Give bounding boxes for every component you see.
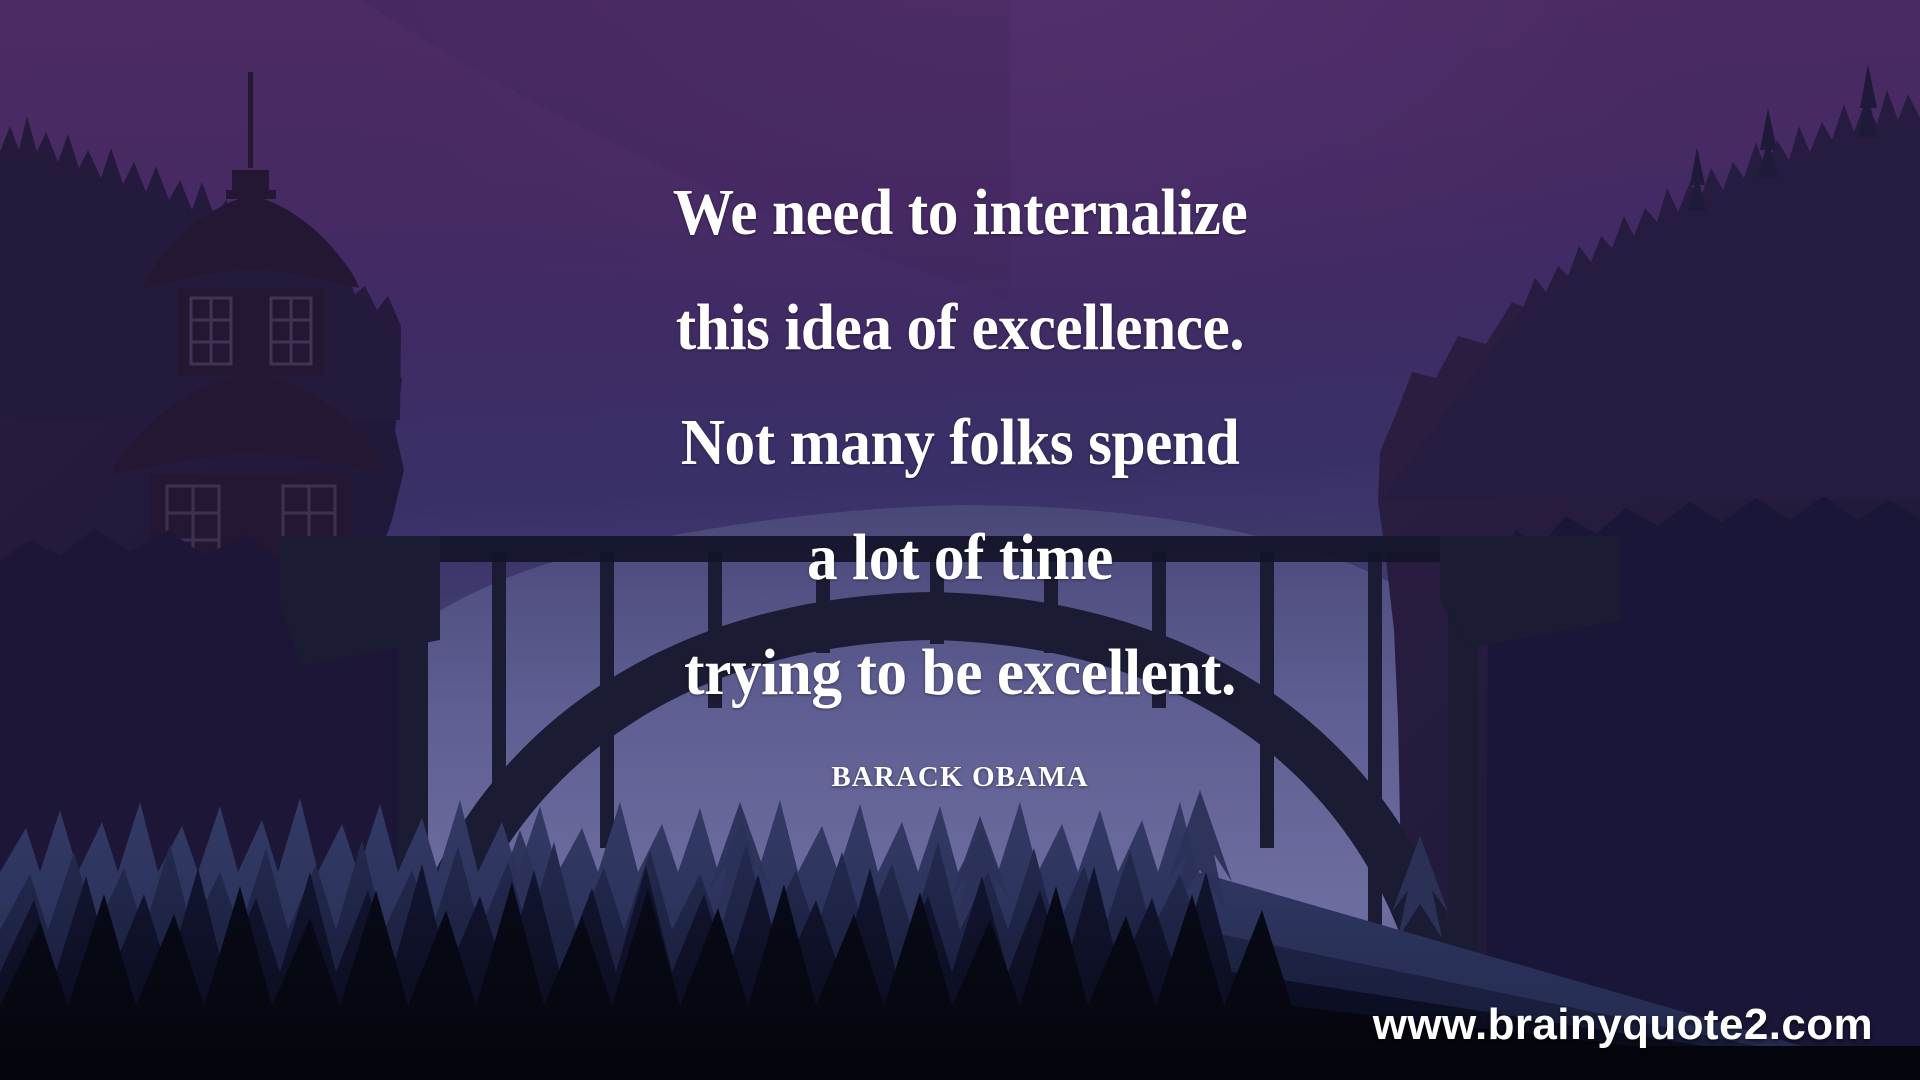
website-watermark: www.brainyquote2.com <box>1373 1000 1873 1050</box>
pagoda-finial <box>232 170 269 192</box>
background-illustration <box>0 0 1920 1080</box>
pagoda-spire <box>248 72 253 168</box>
bridge-deck-shadow <box>300 552 1620 562</box>
foreground-shadow <box>0 1046 1920 1080</box>
bridge-deck <box>300 536 1620 552</box>
quote-image: We need to internalize this idea of exce… <box>0 0 1920 1080</box>
